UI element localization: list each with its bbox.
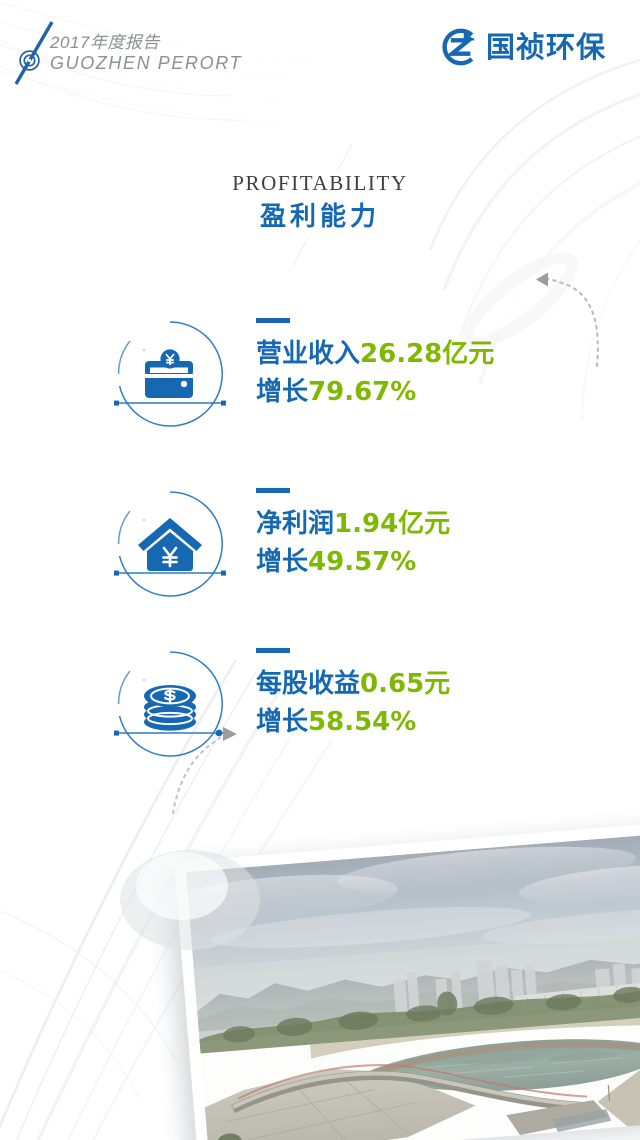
decor-slash-top xyxy=(337,144,353,173)
section-title-cn: 盈利能力 xyxy=(0,199,640,235)
metric-text-block: 营业收入26.28亿元 增长79.67% xyxy=(256,318,494,411)
metric-accent-dash xyxy=(256,648,290,653)
company-logo[interactable]: 国祯环保 xyxy=(437,26,606,68)
page-header: 2017年度报告 GUOZHEN PERORT 国祯环保 xyxy=(0,0,640,100)
section-title-block: PROFITABILITY 盈利能力 xyxy=(0,170,640,235)
metric-accent-dash xyxy=(256,488,290,493)
metric-growth-value: 58.54% xyxy=(308,707,416,737)
metric-growth-value: 79.67% xyxy=(308,377,416,407)
report-name-label: GUOZHEN PERORT xyxy=(50,53,242,74)
section-title-en: PROFITABILITY xyxy=(0,170,640,196)
photo-card xyxy=(174,820,640,1140)
metric-primary-line: 净利润1.94亿元 xyxy=(256,505,450,543)
metric-label: 净利润 xyxy=(256,509,334,539)
metric-value: 26.28亿元 xyxy=(360,339,494,369)
metric-row: 净利润1.94亿元 增长49.57% xyxy=(0,488,640,618)
metric-text-block: 净利润1.94亿元 增长49.57% xyxy=(256,488,450,581)
metric-growth-line: 增长58.54% xyxy=(256,703,450,741)
metric-growth-label: 增长 xyxy=(256,377,308,407)
metric-text-block: 每股收益0.65元 增长58.54% xyxy=(256,648,450,741)
metric-growth-label: 增长 xyxy=(256,707,308,737)
metric-row: 营业收入26.28亿元 增长79.67% xyxy=(0,318,640,448)
bank-house-yuan-icon xyxy=(114,488,226,600)
metric-growth-line: 增长79.67% xyxy=(256,373,494,411)
metric-label: 每股收益 xyxy=(256,669,360,699)
guozhen-circular-z-mark xyxy=(437,26,479,68)
metric-growth-line: 增长49.57% xyxy=(256,543,450,581)
wastewater-treatment-landscape-photo xyxy=(186,831,640,1140)
metric-accent-dash xyxy=(256,318,290,323)
metric-growth-label: 增长 xyxy=(256,547,308,577)
metric-value: 0.65元 xyxy=(360,669,450,699)
report-year-label: 2017年度报告 xyxy=(50,33,242,53)
wallet-icon xyxy=(114,318,226,430)
metric-primary-line: 每股收益0.65元 xyxy=(256,665,450,703)
metric-row: 每股收益0.65元 增长58.54% xyxy=(0,648,640,778)
report-title-block: 2017年度报告 GUOZHEN PERORT xyxy=(50,33,242,74)
coin-stack-dollar-icon xyxy=(114,648,226,760)
metric-label: 营业收入 xyxy=(256,339,360,369)
metric-growth-value: 49.57% xyxy=(308,547,416,577)
decor-slash-bottom xyxy=(293,238,309,267)
infographic-page: 2017年度报告 GUOZHEN PERORT 国祯环保 PROFITABILI… xyxy=(0,0,640,1140)
metric-primary-line: 营业收入26.28亿元 xyxy=(256,335,494,373)
metric-value: 1.94亿元 xyxy=(334,509,450,539)
company-name-label: 国祯环保 xyxy=(486,32,606,62)
photo-frame xyxy=(174,820,640,1140)
